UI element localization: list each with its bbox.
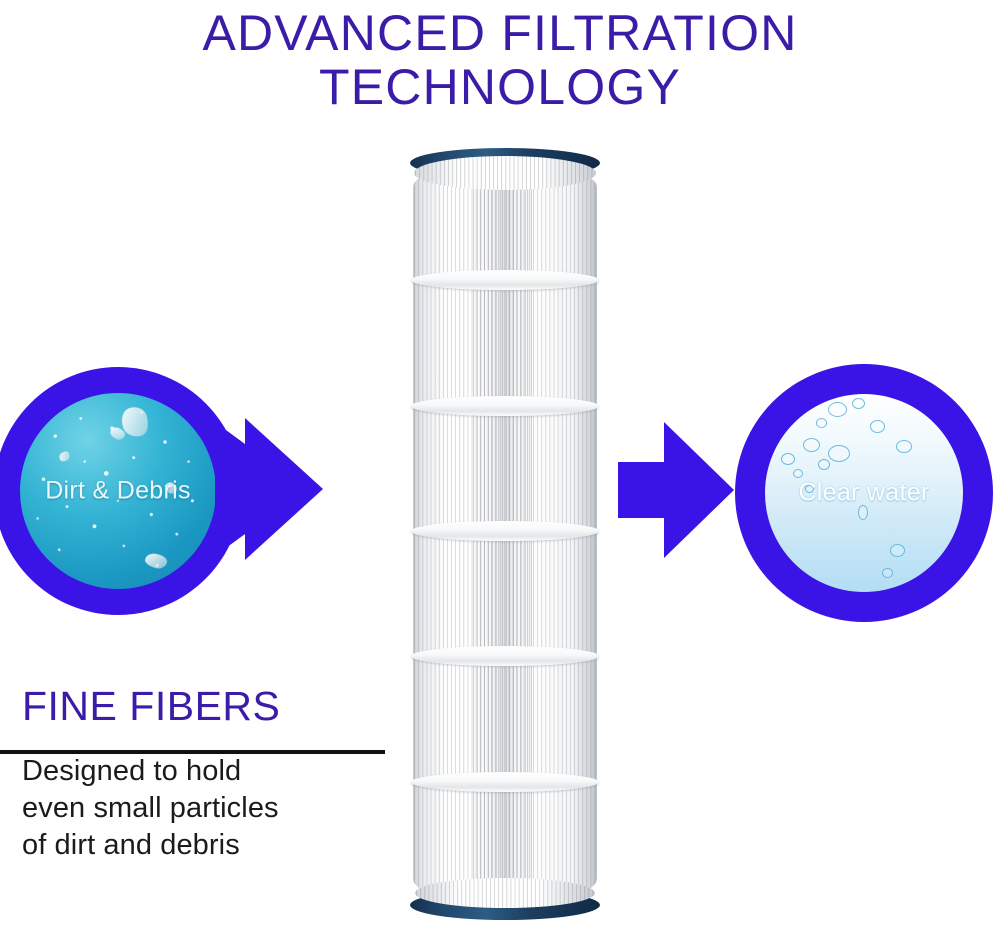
fine-fibers-body-line-2: even small particles [22, 790, 392, 827]
clear-water-fill: Clear water [765, 394, 963, 592]
fine-fibers-body-line-1: Designed to hold [22, 753, 392, 790]
filter-band [411, 646, 599, 666]
bubble [896, 440, 912, 453]
bubble [781, 453, 795, 465]
bubble [882, 568, 893, 578]
filter-band [411, 521, 599, 541]
fine-fibers-body-line-3: of dirt and debris [22, 827, 392, 864]
filter-band [411, 270, 599, 290]
fine-fibers-body: Designed to hold even small particles of… [22, 753, 392, 864]
dirty-water-icon: Dirt & Debris [0, 367, 242, 615]
filter-top-pleat-edge [414, 156, 596, 190]
dirty-water-label: Dirt & Debris [20, 477, 216, 506]
pool-filter-cartridge-icon [410, 148, 600, 920]
title-line-1: ADVANCED FILTRATION [0, 6, 1000, 60]
filter-bottom-pleat-edge [415, 878, 595, 908]
bubble [852, 398, 865, 409]
dirty-water-fill: Dirt & Debris [20, 393, 216, 589]
bubble [793, 469, 803, 478]
bubble [890, 544, 905, 557]
clear-water-label: Clear water [765, 479, 963, 508]
divider [0, 750, 385, 754]
fine-fibers-section: FINE FIBERS Designed to hold even small … [22, 686, 392, 864]
bubble [870, 420, 885, 433]
page-title: ADVANCED FILTRATION TECHNOLOGY [0, 6, 1000, 114]
filter-band [411, 396, 599, 416]
bubble [818, 459, 830, 470]
bubble [828, 445, 850, 462]
filter-band [411, 772, 599, 792]
arrow-right-icon [618, 420, 736, 560]
bubble [816, 418, 827, 428]
title-line-2: TECHNOLOGY [0, 60, 1000, 114]
fine-fibers-heading: FINE FIBERS [22, 686, 392, 727]
clear-water-icon: Clear water [735, 364, 993, 622]
arrow-right-icon [215, 414, 325, 564]
bubble [828, 402, 847, 417]
bubble [803, 438, 820, 452]
